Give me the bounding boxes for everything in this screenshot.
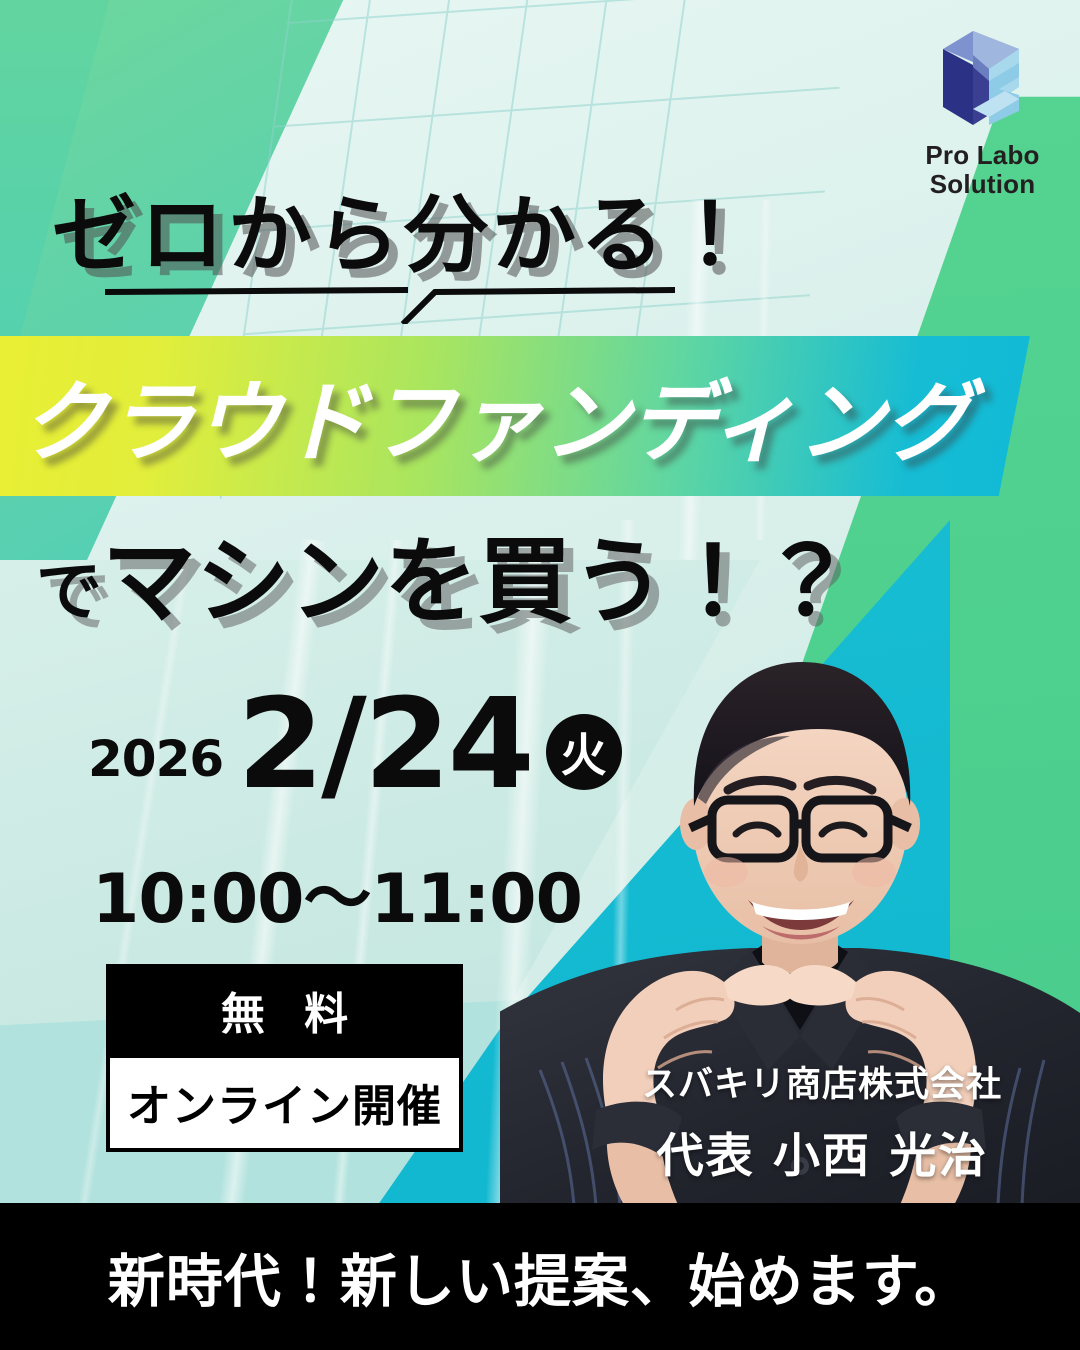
brand-name-line1: Pro Labo xyxy=(925,140,1039,170)
brand-name: Pro Labo Solution xyxy=(905,141,1060,199)
badge-online: オンライン開催 xyxy=(106,1058,463,1152)
headline-line-3-prefix: で xyxy=(36,553,102,630)
speaker-caption: スバキリ商店株式会社 代表 小西 光治 xyxy=(642,1056,1002,1186)
brand-logo: Pro Labo Solution xyxy=(905,25,1060,199)
event-year: 2026 xyxy=(88,730,223,800)
footer-bar: 新時代！新しい提案、始めます。 xyxy=(0,1203,1080,1350)
headline-line-1: ゼロから分かる！ xyxy=(52,168,756,289)
footer-tagline: 新時代！新しい提案、始めます。 xyxy=(108,1236,972,1318)
speaker-name: 代表 小西 光治 xyxy=(642,1117,1002,1186)
headline-divider-rule xyxy=(105,282,675,324)
event-date: 2/24 xyxy=(237,690,532,800)
brand-name-line2: Solution xyxy=(930,169,1036,199)
headline-line-3-rest: マシンを買う！？ xyxy=(102,528,854,637)
isometric-cube-ps-logo-icon xyxy=(927,25,1039,135)
headline-line-3: でマシンを買う！？ xyxy=(36,506,854,642)
speaker-company: スバキリ商店株式会社 xyxy=(642,1056,1002,1107)
badge-free: 無 料 xyxy=(106,964,463,1058)
event-badges: 無 料 オンライン開催 xyxy=(106,964,463,1152)
event-time: 10:00〜11:00 xyxy=(92,843,582,942)
seminar-poster: Pro Labo Solution ゼロから分かる！ クラウドファンディング で… xyxy=(0,0,1080,1350)
event-date-row: 2026 2/24 火 xyxy=(88,690,622,800)
headline-highlight-text: クラウドファンディング xyxy=(20,352,1000,479)
event-day-of-week-badge: 火 xyxy=(546,714,622,790)
